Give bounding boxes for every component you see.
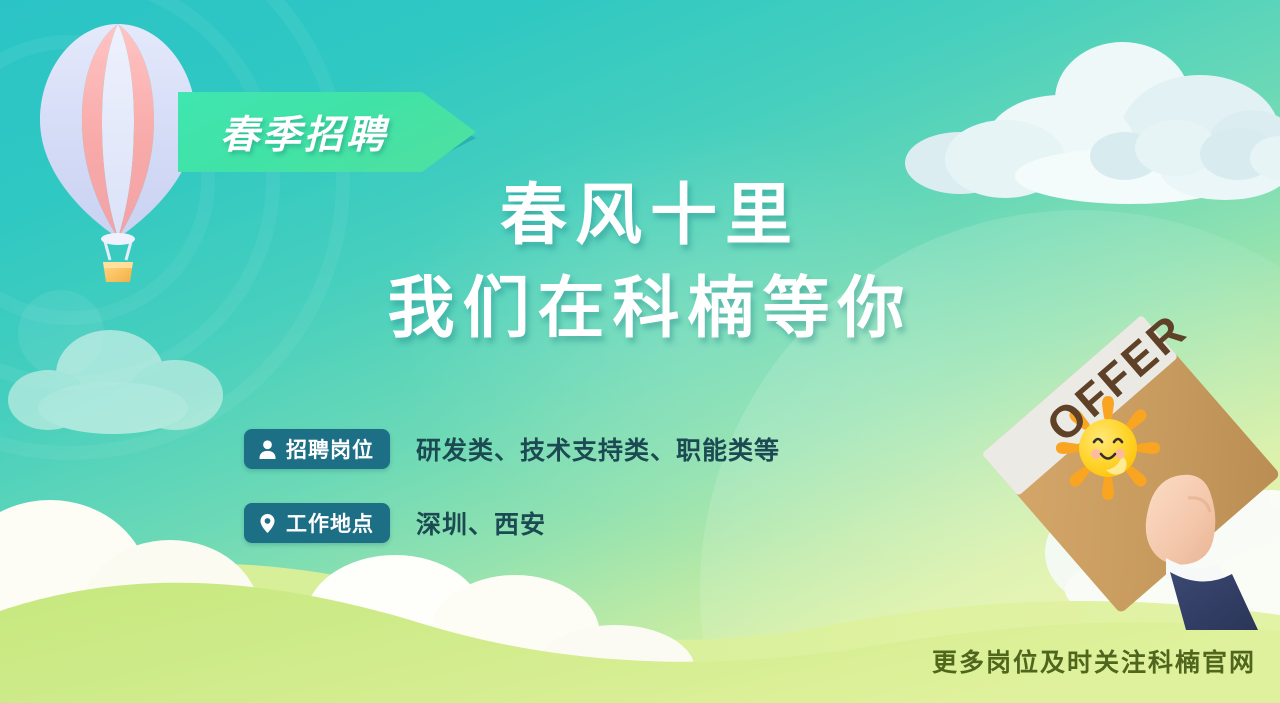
headline-line-2: 我们在科楠等你 bbox=[300, 269, 1000, 348]
info-location-value: 深圳、西安 bbox=[416, 505, 546, 541]
suit-sleeve bbox=[1170, 572, 1258, 630]
info-row-positions: 招聘岗位 研发类、技术支持类、职能类等 bbox=[244, 428, 780, 470]
map-pin-icon bbox=[258, 513, 277, 534]
cloud-top-right-small bbox=[1090, 120, 1280, 180]
circle-dot-decoration bbox=[18, 290, 104, 376]
recruitment-banner: 春季招聘 春风十里 我们在科楠等你 招聘岗位 研发类、技术支持类、职能类等 bbox=[0, 0, 1280, 703]
badge-positions[interactable]: 招聘岗位 bbox=[244, 429, 390, 469]
headline-line-1: 春风十里 bbox=[300, 176, 1000, 255]
season-ribbon-tag: 春季招聘 bbox=[178, 88, 476, 176]
cloud-top-right bbox=[905, 40, 1280, 190]
person-icon bbox=[258, 439, 277, 460]
cloud-mid-left bbox=[8, 330, 228, 440]
headline-block: 春风十里 我们在科楠等你 bbox=[300, 176, 1000, 348]
offer-envelope-illustration: OFFER bbox=[980, 300, 1280, 630]
badge-positions-label: 招聘岗位 bbox=[286, 434, 374, 464]
info-block: 招聘岗位 研发类、技术支持类、职能类等 工作地点 深圳、西安 bbox=[244, 428, 780, 576]
footer-note: 更多岗位及时关注科楠官网 bbox=[932, 643, 1256, 679]
info-row-location: 工作地点 深圳、西安 bbox=[244, 502, 780, 544]
badge-location[interactable]: 工作地点 bbox=[244, 503, 390, 543]
badge-location-label: 工作地点 bbox=[286, 508, 374, 538]
info-positions-value: 研发类、技术支持类、职能类等 bbox=[416, 431, 780, 467]
season-ribbon-label: 春季招聘 bbox=[178, 88, 476, 176]
